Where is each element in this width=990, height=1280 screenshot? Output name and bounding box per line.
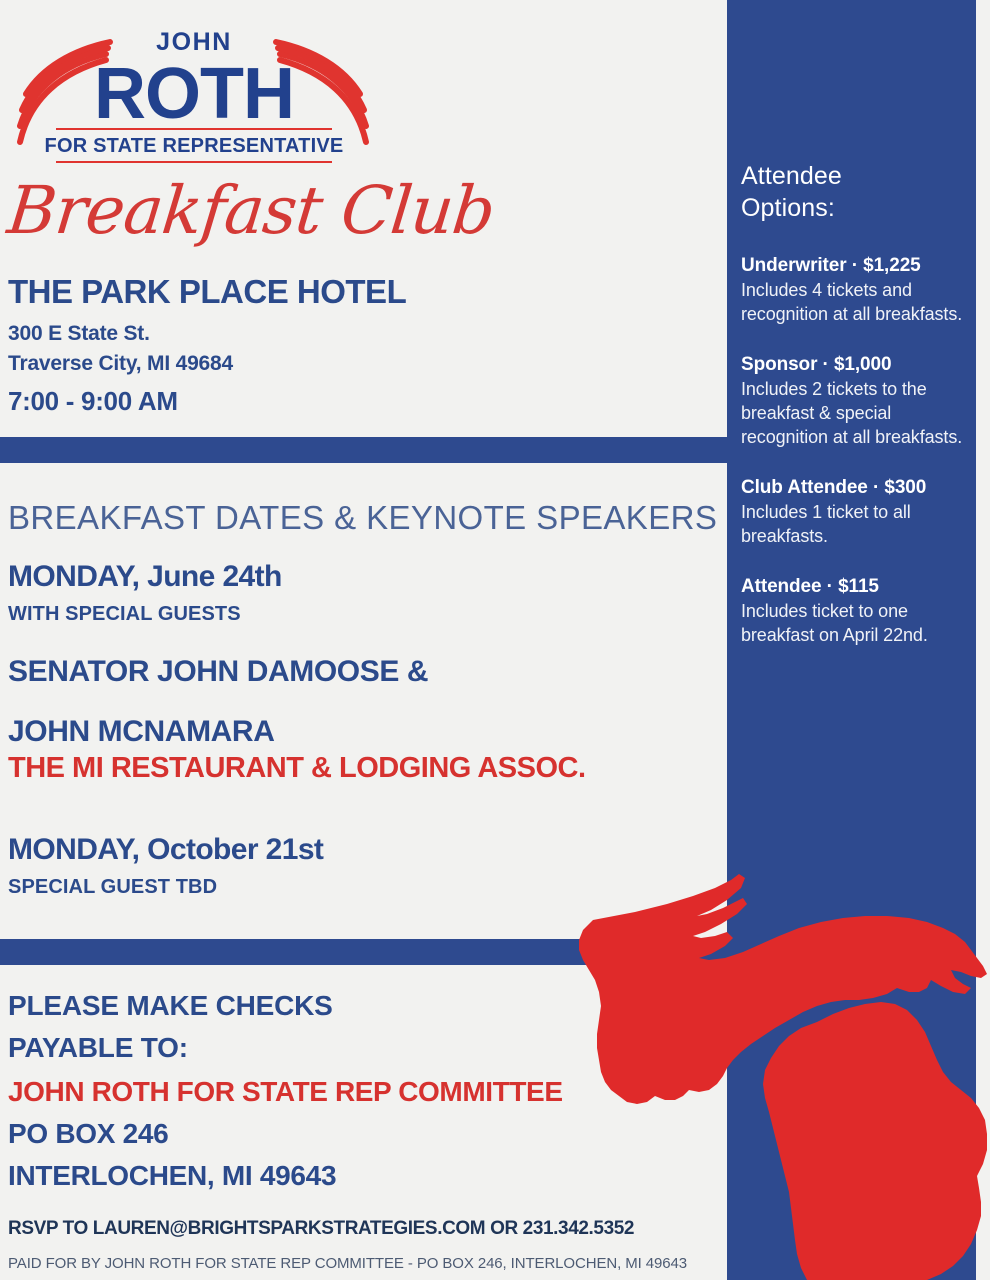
event-item: MONDAY, October 21st SPECIAL GUEST TBD	[8, 833, 720, 899]
section-spacer	[8, 785, 720, 833]
option-description: Includes ticket to one breakfast on Apri…	[741, 599, 964, 647]
event-date: MONDAY, June 24th	[8, 560, 720, 595]
venue-address-line2: Traverse City, MI 49684	[8, 349, 708, 379]
checks-po-box: PO BOX 246	[8, 1113, 708, 1155]
checks-lead-line1: PLEASE MAKE CHECKS	[8, 985, 708, 1027]
attendee-options-content: Attendee Options: Underwriter · $1,225 I…	[727, 0, 976, 674]
venue-block: THE PARK PLACE HOTEL 300 E State St. Tra…	[8, 274, 708, 417]
event-speaker-one: SENATOR JOHN DAMOOSE &	[8, 654, 720, 690]
attendee-option-sponsor: Sponsor · $1,000 Includes 2 tickets to t…	[741, 353, 964, 449]
divider-bar-bottom	[0, 939, 730, 965]
option-name-price: Underwriter · $1,225	[741, 254, 964, 278]
event-subtitle: WITH SPECIAL GUESTS	[8, 602, 720, 626]
paid-for-disclaimer: PAID FOR BY JOHN ROTH FOR STATE REP COMM…	[8, 1255, 768, 1273]
flyer-page: Attendee Options: Underwriter · $1,225 I…	[0, 0, 990, 1280]
option-description: Includes 1 ticket to all breakfasts.	[741, 500, 964, 548]
attendee-options-title: Attendee Options:	[741, 160, 891, 224]
venue-time: 7:00 - 9:00 AM	[8, 386, 708, 417]
event-subtitle: SPECIAL GUEST TBD	[8, 875, 720, 899]
attendee-option-underwriter: Underwriter · $1,225 Includes 4 tickets …	[741, 254, 964, 326]
venue-name: THE PARK PLACE HOTEL	[8, 274, 708, 311]
event-speaker-two: JOHN MCNAMARA	[8, 714, 720, 750]
logo-last-name: ROTH	[94, 54, 294, 134]
campaign-logo: JOHN ROTH FOR STATE REPRESENTATIVE	[14, 22, 374, 172]
footer-block: RSVP TO LAUREN@BRIGHTSPARKSTRATEGIES.COM…	[8, 1218, 768, 1273]
checks-section: PLEASE MAKE CHECKS PAYABLE TO: JOHN ROTH…	[8, 985, 708, 1197]
divider-bar-top	[0, 437, 730, 463]
rsvp-line: RSVP TO LAUREN@BRIGHTSPARKSTRATEGIES.COM…	[8, 1218, 768, 1241]
checks-city-state-zip: INTERLOCHEN, MI 49643	[8, 1155, 708, 1197]
option-description: Includes 2 tickets to the breakfast & sp…	[741, 377, 964, 449]
speakers-section-heading: BREAKFAST DATES & KEYNOTE SPEAKERS	[8, 500, 720, 536]
attendee-option-attendee: Attendee · $115 Includes ticket to one b…	[741, 575, 964, 647]
checks-lead-line2: PAYABLE TO:	[8, 1027, 708, 1069]
event-speaker-two-org: THE MI RESTAURANT & LODGING ASSOC.	[8, 752, 720, 785]
breakfast-club-title: Breakfast Club	[5, 178, 498, 244]
speakers-section: BREAKFAST DATES & KEYNOTE SPEAKERS MONDA…	[8, 500, 720, 899]
option-name-price: Attendee · $115	[741, 575, 964, 599]
option-description: Includes 4 tickets and recognition at al…	[741, 278, 964, 326]
attendee-options-panel: Attendee Options: Underwriter · $1,225 I…	[727, 0, 976, 1280]
event-date: MONDAY, October 21st	[8, 833, 720, 868]
logo-first-name: JOHN	[156, 28, 232, 56]
checks-committee-name: JOHN ROTH FOR STATE REP COMMITTEE	[8, 1071, 708, 1113]
venue-address-line1: 300 E State St.	[8, 319, 708, 349]
option-name-price: Club Attendee · $300	[741, 476, 964, 500]
option-name-price: Sponsor · $1,000	[741, 353, 964, 377]
attendee-option-club-attendee: Club Attendee · $300 Includes 1 ticket t…	[741, 476, 964, 548]
event-item: MONDAY, June 24th WITH SPECIAL GUESTS SE…	[8, 560, 720, 785]
logo-tagline: FOR STATE REPRESENTATIVE	[45, 135, 344, 157]
